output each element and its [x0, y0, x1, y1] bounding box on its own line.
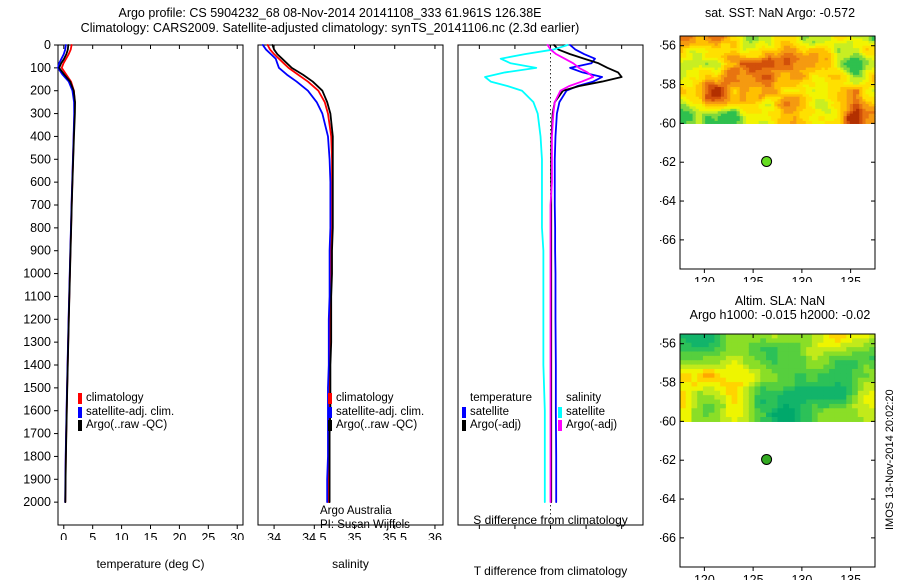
legend-color-swatch [328, 420, 332, 431]
map-cell [743, 417, 749, 422]
map-cell [709, 343, 715, 348]
map-cell [743, 391, 749, 396]
map-cell [772, 404, 778, 409]
map-cell [864, 404, 870, 409]
map-cell [812, 413, 818, 418]
difference-panel: -2-1012-0.5-0.2500.250.5 [450, 40, 660, 540]
legend-item: satellite-adj. clim. [78, 406, 174, 420]
map-cell [686, 351, 692, 356]
map-cell [720, 360, 726, 365]
map-cell [743, 334, 749, 339]
map-cell [835, 417, 841, 422]
map-cell [835, 378, 841, 383]
map-cell [760, 408, 766, 413]
map-cell [703, 356, 709, 361]
map-cell [749, 369, 755, 374]
tick-label: -58 [660, 78, 676, 92]
map-cell [806, 369, 812, 374]
map-cell [686, 347, 692, 352]
map-cell [818, 413, 824, 418]
map-cell [760, 386, 766, 391]
map-cell [766, 400, 772, 405]
map-cell [841, 373, 847, 378]
map-cell [720, 386, 726, 391]
map-cell [852, 347, 858, 352]
map-cell [772, 378, 778, 383]
map-cell [846, 378, 852, 383]
tick-label: 125 [743, 275, 764, 282]
map-cell [864, 400, 870, 405]
figure-title-line2: Climatology: CARS2009. Satellite-adjuste… [0, 21, 660, 36]
map-cell [766, 365, 772, 370]
map-cell [795, 343, 801, 348]
map-cell [823, 356, 829, 361]
map-cell [800, 360, 806, 365]
map-cell [714, 365, 720, 370]
map-cell [760, 369, 766, 374]
tick-label: 35 [348, 531, 362, 540]
map-cell [864, 369, 870, 374]
map-cell [720, 338, 726, 343]
map-cell [697, 400, 703, 405]
map-cell [743, 413, 749, 418]
map-cell [755, 413, 761, 418]
map-cell [743, 338, 749, 343]
tick-label: 5 [89, 531, 96, 540]
map-cell [726, 351, 732, 356]
map-cell [714, 373, 720, 378]
map-cell [737, 351, 743, 356]
map-cell [789, 334, 795, 339]
salinity-panel: 3434.53535.536 [250, 40, 450, 540]
map-cell [852, 382, 858, 387]
map-cell [800, 413, 806, 418]
map-cell [823, 404, 829, 409]
map-cell [778, 395, 784, 400]
map-cell [778, 408, 784, 413]
map-cell [812, 356, 818, 361]
map-cell [783, 404, 789, 409]
tick-label: -64 [660, 492, 676, 506]
tick-label: 30 [230, 531, 244, 540]
map-cell [691, 400, 697, 405]
temperature-difference-axis-label: T difference from climatology [458, 564, 643, 578]
map-cell [709, 382, 715, 387]
map-cell [737, 343, 743, 348]
map-cell [864, 413, 870, 418]
map-cell [755, 404, 761, 409]
map-cell [812, 395, 818, 400]
map-cell [680, 365, 686, 370]
map-cell [691, 391, 697, 396]
tick-label: -66 [660, 233, 676, 247]
map-cell [697, 373, 703, 378]
salinity-legend: climatologysatellite-adj. clim.Argo(..ra… [328, 392, 424, 433]
map-cell [812, 404, 818, 409]
map-cell [846, 369, 852, 374]
map-cell [852, 365, 858, 370]
map-cell [823, 395, 829, 400]
map-cell [829, 404, 835, 409]
salinity-series-satellite-adj--clim- [263, 45, 331, 502]
map-cell [812, 360, 818, 365]
map-cell [812, 408, 818, 413]
map-cell [743, 400, 749, 405]
map-cell [680, 351, 686, 356]
map-cell [766, 373, 772, 378]
map-cell [818, 351, 824, 356]
map-cell [680, 391, 686, 396]
map-cell [749, 417, 755, 422]
map-cell [743, 365, 749, 370]
map-cell [697, 338, 703, 343]
map-cell [852, 391, 858, 396]
tick-label: 25 [201, 531, 215, 540]
map-cell [703, 369, 709, 374]
figure-title-line1: Argo profile: CS 5904232_68 08-Nov-2014 … [0, 6, 660, 21]
map-cell [697, 386, 703, 391]
map-cell [760, 360, 766, 365]
map-cell [749, 343, 755, 348]
map-cell [743, 408, 749, 413]
tick-label: 125 [743, 573, 764, 580]
map-cell [852, 404, 858, 409]
legend-color-swatch [328, 393, 332, 404]
map-cell [766, 347, 772, 352]
map-cell [795, 408, 801, 413]
map-cell [749, 395, 755, 400]
map-cell [772, 351, 778, 356]
map-cell [749, 365, 755, 370]
map-cell [691, 356, 697, 361]
map-cell [709, 378, 715, 383]
map-cell [686, 365, 692, 370]
map-cell [749, 391, 755, 396]
map-cell [732, 334, 738, 339]
map-cell [841, 395, 847, 400]
map-cell [778, 365, 784, 370]
map-cell [841, 400, 847, 405]
map-cell [852, 338, 858, 343]
map-cell [852, 417, 858, 422]
map-cell [686, 373, 692, 378]
map-cell [703, 382, 709, 387]
map-cell [835, 351, 841, 356]
map-cell [864, 334, 870, 339]
map-cell [789, 351, 795, 356]
map-cell [852, 413, 858, 418]
legend-color-swatch [78, 420, 82, 431]
tick-label: 2000 [23, 495, 51, 509]
map-cell [852, 395, 858, 400]
map-cell [720, 334, 726, 339]
map-cell [737, 386, 743, 391]
map-cell [760, 338, 766, 343]
map-cell [714, 378, 720, 383]
map-cell [818, 417, 824, 422]
tick-label: 400 [30, 129, 51, 143]
map-cell [846, 351, 852, 356]
map-cell [691, 382, 697, 387]
map-cell [720, 400, 726, 405]
map-cell [795, 382, 801, 387]
map-cell [783, 378, 789, 383]
map-cell [749, 408, 755, 413]
map-cell [755, 395, 761, 400]
map-cell [795, 400, 801, 405]
map-cell [841, 343, 847, 348]
map-cell [864, 417, 870, 422]
map-cell [703, 365, 709, 370]
map-cell [720, 408, 726, 413]
legend-item: climatology [328, 392, 424, 406]
map-cell [772, 395, 778, 400]
map-cell [697, 417, 703, 422]
legend-label: satellite-adj. clim. [336, 406, 424, 420]
map-cell [783, 417, 789, 422]
map-cell [680, 338, 686, 343]
map-cell [772, 338, 778, 343]
map-cell [680, 395, 686, 400]
map-cell [823, 413, 829, 418]
map-cell [697, 343, 703, 348]
map-cell [766, 356, 772, 361]
map-cell [806, 417, 812, 422]
tick-label: 700 [30, 198, 51, 212]
map-cell [864, 338, 870, 343]
map-cell [709, 356, 715, 361]
map-cell [812, 369, 818, 374]
legend-heading: salinity [558, 392, 617, 406]
map-cell [778, 400, 784, 405]
map-cell [778, 382, 784, 387]
map-cell [852, 400, 858, 405]
map-cell [823, 378, 829, 383]
map-cell [864, 351, 870, 356]
map-cell [755, 365, 761, 370]
tick-label: 1600 [23, 404, 51, 418]
map-cell [789, 365, 795, 370]
map-cell [755, 417, 761, 422]
map-cell [783, 413, 789, 418]
map-cell [760, 351, 766, 356]
map-cell [858, 378, 864, 383]
map-cell [691, 334, 697, 339]
map-cell [737, 369, 743, 374]
map-cell [766, 378, 772, 383]
map-cell [841, 334, 847, 339]
map-cell [823, 408, 829, 413]
map-cell [778, 351, 784, 356]
tick-label: 130 [791, 573, 812, 580]
tick-label: 300 [30, 107, 51, 121]
map-cell [772, 369, 778, 374]
map-cell [858, 334, 864, 339]
map-cell [829, 413, 835, 418]
map-cell [760, 347, 766, 352]
map-cell [697, 395, 703, 400]
map-cell [806, 365, 812, 370]
map-cell [800, 338, 806, 343]
map-cell [709, 391, 715, 396]
salinity-axis-label: salinity [258, 557, 443, 571]
attribution-org: Argo Australia [320, 505, 410, 519]
map-cell [714, 408, 720, 413]
map-cell [772, 373, 778, 378]
map-cell [720, 369, 726, 374]
tick-label: 36 [428, 531, 442, 540]
tick-label: 20 [172, 531, 186, 540]
tick-label: 1000 [23, 267, 51, 281]
map-cell [726, 386, 732, 391]
map-cell [818, 404, 824, 409]
map-cell [709, 373, 715, 378]
map-cell [772, 413, 778, 418]
legend-color-swatch [462, 407, 466, 418]
map-cell [760, 417, 766, 422]
map-cell [709, 413, 715, 418]
map-cell [743, 386, 749, 391]
map-cell [680, 386, 686, 391]
map-cell [795, 347, 801, 352]
map-cell [823, 360, 829, 365]
map-cell [686, 343, 692, 348]
map-cell [823, 386, 829, 391]
map-cell [800, 395, 806, 400]
map-cell [772, 365, 778, 370]
tick-label: -56 [660, 39, 676, 53]
map-cell [818, 338, 824, 343]
map-cell [818, 373, 824, 378]
map-cell [783, 334, 789, 339]
map-cell [800, 404, 806, 409]
map-cell [795, 391, 801, 396]
map-cell [818, 391, 824, 396]
map-cell [714, 347, 720, 352]
legend-label: climatology [86, 392, 144, 406]
map-cell [846, 395, 852, 400]
map-cell [743, 360, 749, 365]
map-cell [846, 404, 852, 409]
map-cell [686, 391, 692, 396]
map-cell [720, 373, 726, 378]
map-cell [806, 391, 812, 396]
map-cell [760, 413, 766, 418]
tick-label: 1400 [23, 358, 51, 372]
map-cell [709, 417, 715, 422]
sla-map-panel: 120125130135-56-58-60-62-64-66 [660, 324, 900, 580]
map-cell [726, 334, 732, 339]
imos-timestamp: IMOS 13-Nov-2014 20:02:20 [884, 389, 896, 530]
legend-item: satellite-adj. clim. [328, 406, 424, 420]
map-cell [783, 369, 789, 374]
legend-color-swatch [328, 407, 332, 418]
map-cell [720, 356, 726, 361]
map-cell [852, 386, 858, 391]
map-cell [783, 382, 789, 387]
map-cell [755, 334, 761, 339]
map-cell [755, 338, 761, 343]
map-cell [846, 347, 852, 352]
map-cell [835, 395, 841, 400]
map-cell [823, 417, 829, 422]
map-cell [835, 338, 841, 343]
map-cell [818, 334, 824, 339]
map-cell [691, 365, 697, 370]
tick-label: -56 [660, 337, 676, 351]
map-cell [835, 408, 841, 413]
map-cell [829, 373, 835, 378]
map-cell [852, 408, 858, 413]
map-cell [858, 373, 864, 378]
map-cell [858, 343, 864, 348]
map-cell [864, 378, 870, 383]
tick-label: 1500 [23, 381, 51, 395]
map-cell [732, 356, 738, 361]
map-cell [732, 408, 738, 413]
map-cell [795, 395, 801, 400]
map-cell [703, 413, 709, 418]
map-cell [806, 404, 812, 409]
tick-label: 1200 [23, 312, 51, 326]
map-cell [703, 347, 709, 352]
map-cell [766, 338, 772, 343]
map-cell [732, 382, 738, 387]
map-cell [703, 343, 709, 348]
map-cell [858, 365, 864, 370]
map-cell [709, 404, 715, 409]
map-cell [720, 404, 726, 409]
map-cell [766, 408, 772, 413]
map-cell [686, 395, 692, 400]
map-cell [835, 365, 841, 370]
map-cell [846, 365, 852, 370]
map-cell [737, 347, 743, 352]
legend-color-swatch [558, 420, 562, 431]
map-cell [680, 360, 686, 365]
tick-label: 500 [30, 152, 51, 166]
map-cell [823, 334, 829, 339]
map-cell [823, 373, 829, 378]
map-cell [737, 395, 743, 400]
map-cell [743, 347, 749, 352]
map-cell [818, 408, 824, 413]
map-cell [835, 373, 841, 378]
map-cell [858, 351, 864, 356]
map-cell [697, 369, 703, 374]
tick-label: 1700 [23, 427, 51, 441]
tick-label: 135 [840, 275, 861, 282]
map-cell [709, 334, 715, 339]
argo-position-marker [762, 454, 772, 464]
map-cell [726, 373, 732, 378]
legend-label: Argo(..raw -QC) [336, 419, 417, 433]
map-cell [783, 338, 789, 343]
map-cell [732, 413, 738, 418]
map-cell [846, 356, 852, 361]
map-cell [766, 404, 772, 409]
map-cell [841, 356, 847, 361]
map-cell [800, 386, 806, 391]
sst-map-svg: 120125130135-56-58-60-62-64-66 [660, 22, 900, 282]
map-cell [680, 334, 686, 339]
map-cell [749, 386, 755, 391]
map-cell [858, 347, 864, 352]
map-cell [806, 338, 812, 343]
difference-series-temperature-argo--adj- [551, 45, 621, 502]
map-cell [818, 356, 824, 361]
map-cell [680, 347, 686, 352]
